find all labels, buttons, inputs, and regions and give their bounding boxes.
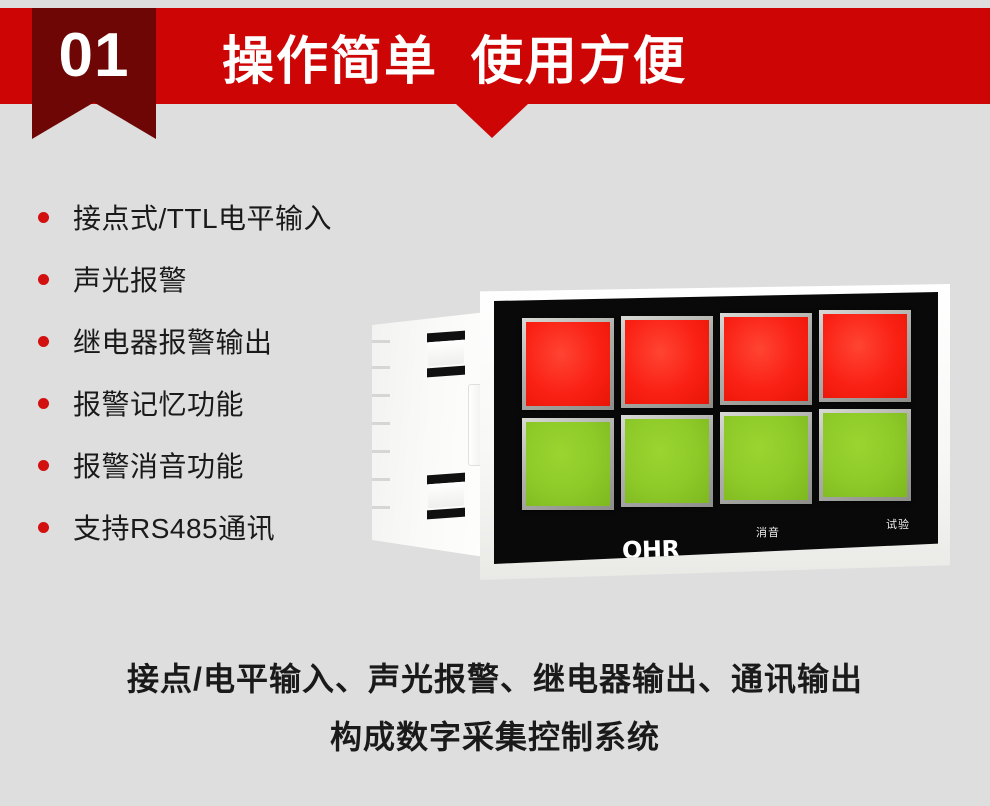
lamp-face — [625, 320, 709, 404]
feature-label: 继电器报警输出 — [73, 321, 273, 361]
bullet-icon — [38, 398, 49, 409]
alarm-lamp-green-1[interactable] — [522, 418, 614, 510]
lamp-face — [724, 317, 808, 401]
alarm-lamp-red-2[interactable] — [621, 316, 713, 408]
alarm-lamp-red-4[interactable] — [819, 310, 911, 402]
power-led-icon — [972, 511, 984, 523]
page-title: 操作简单 使用方便 — [222, 8, 687, 104]
bullet-icon — [38, 274, 49, 285]
bullet-icon — [38, 212, 49, 223]
lamp-face — [526, 322, 610, 406]
alarm-lamp-green-2[interactable] — [621, 415, 713, 507]
bullet-icon — [38, 522, 49, 533]
mute-button-label[interactable]: 消音 — [756, 524, 780, 540]
caption-block: 接点/电平输入、声光报警、继电器输出、通讯输出 构成数字采集控制系统 — [0, 650, 990, 766]
side-fin — [372, 450, 390, 453]
bullet-icon — [38, 460, 49, 471]
feature-label: 报警消音功能 — [73, 445, 244, 485]
alarm-lamp-green-4[interactable] — [819, 409, 911, 501]
lamp-face — [526, 422, 610, 506]
feature-label: 报警记忆功能 — [73, 383, 244, 423]
caption-line-2: 构成数字采集控制系统 — [0, 708, 990, 766]
device-faceplate: 消音 试验 OHR — [494, 292, 938, 564]
section-number: 01 — [32, 8, 156, 104]
section-number-ribbon: 01 — [32, 8, 156, 139]
side-fin — [372, 340, 390, 343]
feature-label: 支持RS485通讯 — [73, 507, 275, 547]
side-fin — [372, 422, 390, 425]
test-button-label[interactable]: 试验 — [886, 516, 910, 532]
feature-label: 接点式/TTL电平输入 — [73, 197, 332, 237]
mount-clip — [428, 482, 464, 509]
lamp-face — [625, 419, 709, 503]
banner-arrow-icon — [456, 104, 528, 138]
side-fin — [372, 366, 390, 369]
side-fin — [372, 506, 390, 509]
mount-clip — [428, 340, 464, 367]
lamp-face — [823, 413, 907, 497]
lamp-face — [823, 314, 907, 398]
list-item: 接点式/TTL电平输入 — [38, 186, 438, 248]
alarm-lamp-red-1[interactable] — [522, 318, 614, 410]
side-fin — [372, 478, 390, 481]
promo-page: 01 操作简单 使用方便 接点式/TTL电平输入 声光报警 继电器报警输出 报警… — [0, 0, 990, 806]
feature-label: 声光报警 — [73, 259, 187, 299]
lamp-face — [724, 416, 808, 500]
alarm-lamp-red-3[interactable] — [720, 313, 812, 405]
alarm-lamp-grid — [522, 310, 914, 508]
bullet-icon — [38, 336, 49, 347]
caption-line-1: 接点/电平输入、声光报警、继电器输出、通讯输出 — [0, 650, 990, 708]
alarm-lamp-green-3[interactable] — [720, 412, 812, 504]
product-device-image: 消音 试验 OHR — [372, 284, 950, 586]
side-fin — [372, 394, 390, 397]
